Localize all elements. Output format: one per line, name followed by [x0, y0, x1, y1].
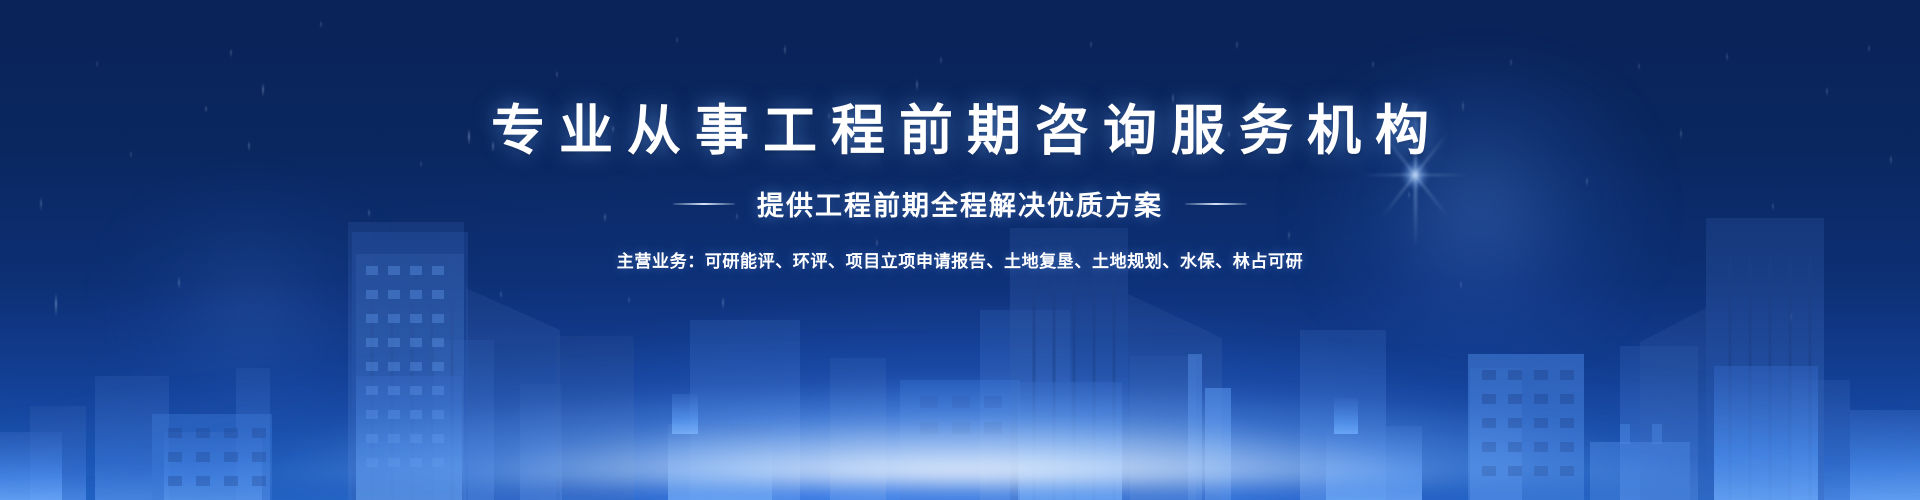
page-subtitle: 提供工程前期全程解决优质方案 [757, 184, 1163, 223]
page-title: 专业从事工程前期咨询服务机构 [0, 104, 1920, 158]
hero-text-block: 专业从事工程前期咨询服务机构 提供工程前期全程解决优质方案 主营业务：可研能评、… [0, 0, 1920, 272]
dash-right-icon [1185, 203, 1247, 205]
services-line: 主营业务：可研能评、环评、项目立项申请报告、土地复垦、土地规划、水保、林占可研 [0, 247, 1920, 272]
subtitle-row: 提供工程前期全程解决优质方案 [0, 184, 1920, 223]
dash-left-icon [673, 203, 735, 205]
hero-banner: 专业从事工程前期咨询服务机构 提供工程前期全程解决优质方案 主营业务：可研能评、… [0, 0, 1920, 500]
